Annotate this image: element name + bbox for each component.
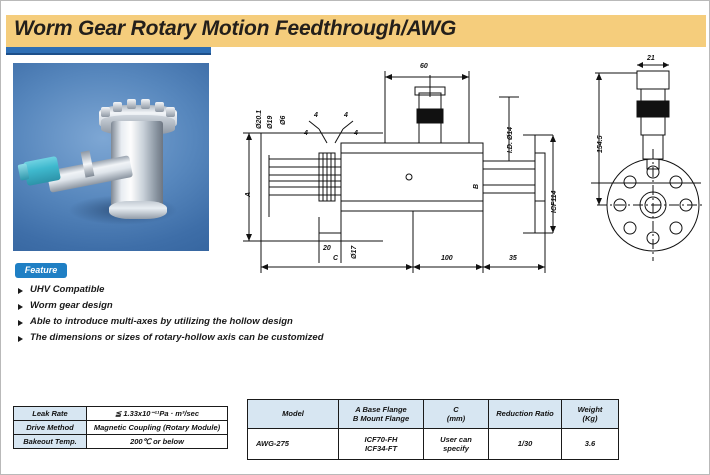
spec-value: ≦ 1.33x10⁻¹¹Pa · m³/sec <box>87 407 228 421</box>
col-c-line1: C <box>453 405 458 414</box>
col-c: C (mm) <box>424 400 489 429</box>
col-flange: A Base Flange B Mount Flange <box>339 400 424 429</box>
col-weight-line2: (Kg) <box>583 414 598 423</box>
table-row: AWG-275 ICF70-FH ICF34-FT User can speci… <box>248 429 619 460</box>
dim-bore-diameter: I.D. Ø14 <box>507 127 514 153</box>
model-table: Model A Base Flange B Mount Flange C (mm… <box>247 399 619 460</box>
dim-side-top: 21 <box>647 55 655 62</box>
title-rule-shadow <box>6 53 211 55</box>
cell-reduction-ratio: 1/30 <box>489 429 562 460</box>
col-weight-line1: Weight <box>578 405 603 414</box>
dim-a-label: A <box>245 192 252 197</box>
dim-notch-left: 4 <box>314 112 318 119</box>
spec-key: Bakeout Temp. <box>14 435 87 449</box>
dim-dia-6: Ø6 <box>280 116 287 125</box>
cell-model: AWG-275 <box>248 429 339 460</box>
feature-tag-label: Feature <box>15 263 67 278</box>
cell-flange: ICF70-FH ICF34-FT <box>339 429 424 460</box>
dim-len-35: 35 <box>509 255 517 262</box>
dim-top-width: 60 <box>420 63 428 70</box>
page-title: Worm Gear Rotary Motion Feedthrough/AWG <box>14 17 456 41</box>
dim-notch-right: 4 <box>344 112 348 119</box>
table-header-row: Model A Base Flange B Mount Flange C (mm… <box>248 400 619 429</box>
col-reduction-ratio: Reduction Ratio <box>489 400 562 429</box>
product-photo <box>13 63 209 251</box>
datasheet-page: Worm Gear Rotary Motion Feedthrough/AWG … <box>0 0 710 475</box>
col-flange-line1: A Base Flange <box>355 405 406 414</box>
spec-key: Leak Rate <box>14 407 87 421</box>
dim-dia-20-1: Ø20.1 <box>256 110 263 129</box>
technical-drawing: 60 21 154.5 I.D. Ø14 ICF114 A B Ø20.1 Ø1… <box>223 57 703 292</box>
col-model: Model <box>248 400 339 429</box>
dim-dia-17: Ø17 <box>351 246 358 259</box>
cell-c-line2: specify <box>443 444 469 453</box>
dim-b-label: B <box>473 184 480 189</box>
dim-notch-right2: 4 <box>354 130 358 137</box>
dim-mount-flange: ICF114 <box>551 191 558 213</box>
col-flange-line2: B Mount Flange <box>353 414 409 423</box>
drawing-canvas <box>223 57 703 292</box>
cell-c: User can specify <box>424 429 489 460</box>
col-weight: Weight (Kg) <box>562 400 619 429</box>
cell-flange-line2: ICF34-FT <box>365 444 397 453</box>
specification-table: Leak Rate ≦ 1.33x10⁻¹¹Pa · m³/sec Drive … <box>13 406 228 449</box>
feature-tag: Feature <box>15 263 67 278</box>
dim-len-100: 100 <box>441 255 453 262</box>
cell-weight: 3.6 <box>562 429 619 460</box>
dim-dia-19: Ø19 <box>267 116 274 129</box>
cell-c-line1: User can <box>440 435 472 444</box>
feature-item: The dimensions or sizes of rotary-hollow… <box>17 332 357 343</box>
dim-side-height: 154.5 <box>597 135 604 153</box>
photo-bottom-flange <box>109 201 167 219</box>
feature-item: Able to introduce multi-axes by utilizin… <box>17 316 357 327</box>
dim-notch-left2: 4 <box>304 130 308 137</box>
spec-value: 200℃ or below <box>87 435 228 449</box>
table-row: Drive Method Magnetic Coupling (Rotary M… <box>14 421 228 435</box>
col-c-line2: (mm) <box>447 414 465 423</box>
table-row: Leak Rate ≦ 1.33x10⁻¹¹Pa · m³/sec <box>14 407 228 421</box>
dim-len-20: 20 <box>323 245 331 252</box>
spec-value: Magnetic Coupling (Rotary Module) <box>87 421 228 435</box>
table-row: Bakeout Temp. 200℃ or below <box>14 435 228 449</box>
feature-item: Worm gear design <box>17 300 357 311</box>
cell-flange-line1: ICF70-FH <box>365 435 398 444</box>
feature-list: UHV Compatible Worm gear design Able to … <box>17 284 357 348</box>
spec-key: Drive Method <box>14 421 87 435</box>
dim-base-c: C <box>333 255 338 262</box>
